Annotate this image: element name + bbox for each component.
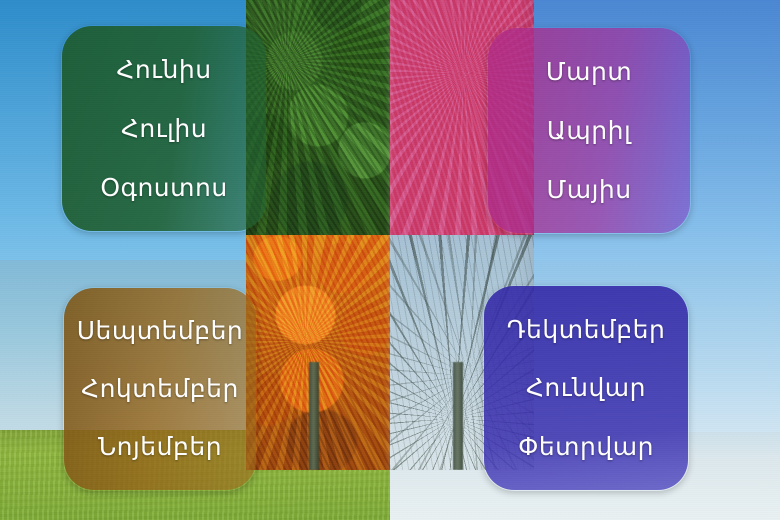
- tree-quadrant-autumn: [246, 235, 390, 470]
- month-label-march: Մարտ: [546, 58, 632, 86]
- summer-canopy-icon: [246, 0, 390, 235]
- month-label-september: Սեպտեմբեր: [77, 317, 244, 345]
- season-panel-autumn[interactable]: Սեպտեմբեր Հոկտեմբեր Նոյեմբեր: [64, 288, 256, 490]
- month-label-january: Հունվար: [526, 374, 646, 402]
- season-panel-summer[interactable]: Հունիս Հուլիս Օգոստոս: [62, 26, 266, 231]
- winter-trunk: [453, 362, 463, 470]
- tree-quadrant-summer: [246, 0, 390, 235]
- season-panel-winter[interactable]: Դեկտեմբեր Հունվար Փետրվար: [484, 286, 688, 490]
- quadrant-seam: [389, 0, 392, 470]
- season-panel-spring[interactable]: Մարտ Ապրիլ Մայիս: [488, 28, 690, 233]
- month-label-october: Հոկտեմբեր: [81, 375, 239, 403]
- seasons-poster: Հունիս Հուլիս Օգոստոս Մարտ Ապրիլ Մայիս Ս…: [0, 0, 780, 520]
- month-label-april: Ապրիլ: [547, 117, 631, 145]
- month-label-may: Մայիս: [546, 176, 631, 204]
- month-label-february: Փետրվար: [518, 433, 654, 461]
- month-label-july: Հուլիս: [121, 115, 207, 143]
- month-label-december: Դեկտեմբեր: [507, 316, 666, 344]
- month-label-august: Օգոստոս: [100, 174, 227, 202]
- month-label-november: Նոյեմբեր: [98, 433, 222, 461]
- month-label-june: Հունիս: [116, 56, 211, 84]
- autumn-trunk: [309, 362, 319, 470]
